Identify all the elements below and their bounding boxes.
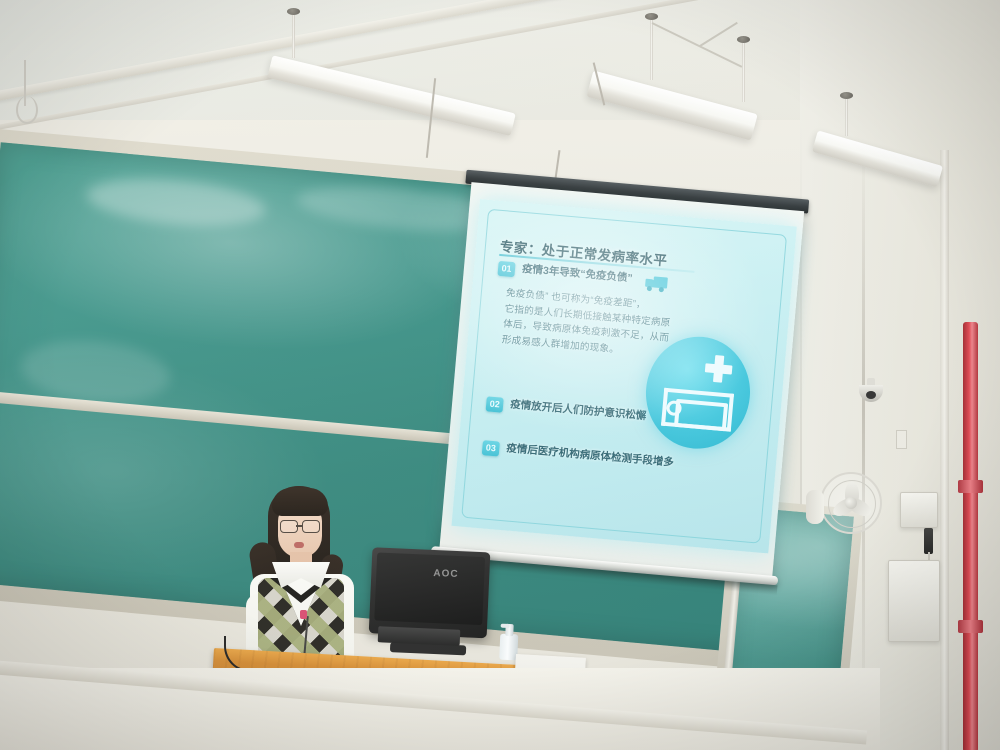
glasses-lens-right (302, 520, 320, 533)
monitor-bezel (374, 552, 485, 625)
monitor-back-panel: AOC (369, 547, 491, 638)
light-ceiling-mount (287, 8, 300, 15)
wall-fan[interactable] (820, 472, 882, 534)
bullet-number-badge: 03 (482, 440, 500, 456)
electrical-panel[interactable] (888, 560, 940, 642)
light-hanger-rod (845, 96, 848, 136)
projected-slide: 专家：处于正常发病率水平 01 疫情3年导致“免疫负债” 免疫负债” 也可称为“… (451, 199, 796, 553)
projection-screen-surface: 专家：处于正常发病率水平 01 疫情3年导致“免疫负债” 免疫负债” 也可称为“… (439, 182, 804, 580)
wall-seam (862, 150, 865, 670)
bullet-number-badge: 02 (486, 396, 504, 412)
mouth (294, 542, 304, 548)
light-ceiling-mount (737, 36, 750, 43)
bullet-number-badge: 01 (497, 261, 515, 277)
projection-screen-assembly[interactable]: 专家：处于正常发病率水平 01 疫情3年导致“免疫负债” 免疫负债” 也可称为“… (435, 176, 804, 600)
electrical-switch[interactable] (924, 528, 933, 554)
light-hanger-rod (650, 18, 653, 80)
ceiling-camera (858, 378, 884, 402)
hair-fringe (272, 488, 328, 516)
light-ceiling-mount (645, 13, 658, 20)
wall-conduit (940, 150, 949, 750)
delivery-truck-icon (645, 276, 668, 292)
fan-wall-mount (806, 490, 824, 524)
classroom-photo-scene: 专家：处于正常发病率水平 01 疫情3年导致“免疫负债” 免疫负债” 也可称为“… (0, 0, 1000, 750)
monitor-brand-label: AOC (433, 568, 459, 580)
light-hanger-rod (742, 40, 745, 102)
pipe-collar (958, 620, 983, 633)
glasses-bridge (296, 525, 302, 527)
light-ceiling-mount (840, 92, 853, 99)
fan-hub (845, 497, 857, 509)
red-standpipe (963, 322, 978, 750)
pipe-collar (958, 480, 983, 493)
light-hanger-rod (292, 12, 295, 58)
fan-pull-cord-loop[interactable] (16, 96, 38, 124)
wall-switch-plate[interactable] (896, 430, 907, 449)
electrical-junction-box (900, 492, 938, 528)
lapel-badge (300, 610, 307, 619)
